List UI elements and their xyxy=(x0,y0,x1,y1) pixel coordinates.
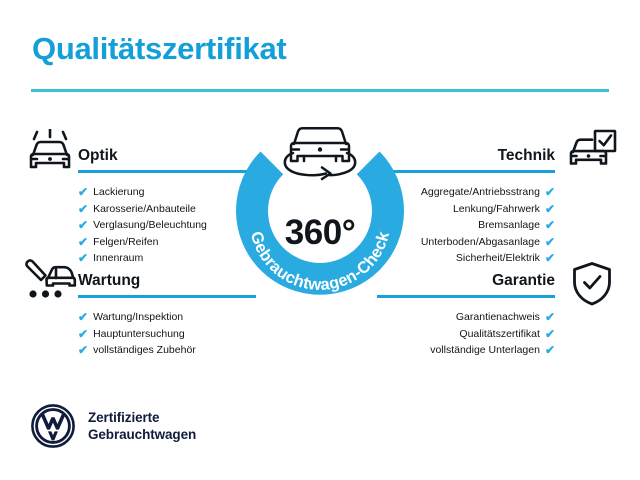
list-item-label: Lackierung xyxy=(93,184,144,201)
check-icon: ✔ xyxy=(545,344,555,356)
list-item-label: Innenraum xyxy=(93,250,143,267)
page-title: Qualitätszertifikat xyxy=(32,32,286,66)
list-item: Aggregate/Antriebsstrang ✔ xyxy=(405,184,555,201)
vw-logo xyxy=(31,404,75,448)
list-item-label: Qualitätszertifikat xyxy=(459,326,540,343)
list-item-label: Aggregate/Antriebsstrang xyxy=(421,184,540,201)
section-technik-title: Technik xyxy=(405,146,555,166)
badge-center-label: 360° xyxy=(285,213,355,252)
list-item: ✔ Wartung/Inspektion xyxy=(78,309,228,326)
car-rotation-icon xyxy=(285,128,355,179)
list-item: ✔ Verglasung/Beleuchtung xyxy=(78,217,228,234)
list-item: ✔ vollständiges Zubehör xyxy=(78,342,228,359)
section-wartung-list: ✔ Wartung/Inspektion ✔ Hauptuntersuchung… xyxy=(78,309,228,359)
list-item-label: Lenkung/Fahrwerk xyxy=(453,201,540,218)
list-item-label: Sicherheit/Elektrik xyxy=(456,250,540,267)
section-garantie-title: Garantie xyxy=(405,271,555,291)
car-shine-icon xyxy=(23,129,77,177)
section-wartung-title: Wartung xyxy=(78,271,228,291)
list-item-label: Hauptuntersuchung xyxy=(93,326,185,343)
list-item: Unterboden/Abgasanlage ✔ xyxy=(405,234,555,251)
check-icon: ✔ xyxy=(78,236,88,248)
check-icon: ✔ xyxy=(78,328,88,340)
check-icon: ✔ xyxy=(545,252,555,264)
wrench-car-icon xyxy=(23,259,77,301)
check-icon: ✔ xyxy=(78,203,88,215)
section-optik-title: Optik xyxy=(78,146,228,166)
section-optik-header: Optik xyxy=(78,146,228,176)
badge-360-gebrauchtwagen-check: Gebrauchtwagen-Check 360° xyxy=(225,112,415,312)
list-item-label: Felgen/Reifen xyxy=(93,234,158,251)
check-icon: ✔ xyxy=(545,203,555,215)
section-wartung-header: Wartung xyxy=(78,271,228,301)
check-icon: ✔ xyxy=(545,186,555,198)
check-icon: ✔ xyxy=(545,328,555,340)
vw-lockup-text: Zertifizierte Gebrauchtwagen xyxy=(88,409,196,443)
list-item-label: Garantienachweis xyxy=(456,309,540,326)
section-technik-list: Aggregate/Antriebsstrang ✔ Lenkung/Fahrw… xyxy=(405,184,555,267)
list-item: Bremsanlage ✔ xyxy=(405,217,555,234)
title-divider xyxy=(31,89,609,92)
list-item-label: Unterboden/Abgasanlage xyxy=(421,234,540,251)
list-item-label: vollständige Unterlagen xyxy=(430,342,540,359)
list-item: ✔ Felgen/Reifen xyxy=(78,234,228,251)
section-technik-header: Technik xyxy=(405,146,555,176)
list-item-label: Bremsanlage xyxy=(478,217,540,234)
section-optik: Optik ✔ Lackierung ✔ Karosserie/Anbautei… xyxy=(78,146,228,267)
list-item: ✔ Lackierung xyxy=(78,184,228,201)
check-icon: ✔ xyxy=(545,311,555,323)
check-icon: ✔ xyxy=(78,219,88,231)
list-item: Qualitätszertifikat ✔ xyxy=(405,326,555,343)
section-technik: Technik Aggregate/Antriebsstrang ✔ Lenku… xyxy=(405,146,555,267)
vw-lockup-line2: Gebrauchtwagen xyxy=(88,426,196,443)
list-item: ✔ Hauptuntersuchung xyxy=(78,326,228,343)
list-item: Lenkung/Fahrwerk ✔ xyxy=(405,201,555,218)
vw-lockup-line1: Zertifizierte xyxy=(88,409,196,426)
list-item-label: vollständiges Zubehör xyxy=(93,342,196,359)
check-icon: ✔ xyxy=(78,344,88,356)
section-garantie: Garantie Garantienachweis ✔ Qualitätszer… xyxy=(405,271,555,359)
list-item: ✔ Innenraum xyxy=(78,250,228,267)
check-icon: ✔ xyxy=(78,311,88,323)
list-item-label: Wartung/Inspektion xyxy=(93,309,183,326)
list-item: Garantienachweis ✔ xyxy=(405,309,555,326)
check-icon: ✔ xyxy=(545,236,555,248)
section-optik-list: ✔ Lackierung ✔ Karosserie/Anbauteile ✔ V… xyxy=(78,184,228,267)
check-icon: ✔ xyxy=(545,219,555,231)
car-checkbox-icon xyxy=(565,129,617,175)
section-garantie-header: Garantie xyxy=(405,271,555,301)
vw-certified-lockup: Zertifizierte Gebrauchtwagen xyxy=(31,404,196,448)
list-item: Sicherheit/Elektrik ✔ xyxy=(405,250,555,267)
section-wartung: Wartung ✔ Wartung/Inspektion ✔ Hauptunte… xyxy=(78,271,228,359)
certificate-page: Qualitätszertifikat Optik ✔ Lackierung ✔… xyxy=(0,0,640,480)
check-icon: ✔ xyxy=(78,252,88,264)
list-item: ✔ Karosserie/Anbauteile xyxy=(78,201,228,218)
list-item-label: Verglasung/Beleuchtung xyxy=(93,217,207,234)
section-garantie-list: Garantienachweis ✔ Qualitätszertifikat ✔… xyxy=(405,309,555,359)
list-item: vollständige Unterlagen ✔ xyxy=(405,342,555,359)
shield-check-icon xyxy=(570,261,614,307)
check-icon: ✔ xyxy=(78,186,88,198)
list-item-label: Karosserie/Anbauteile xyxy=(93,201,196,218)
